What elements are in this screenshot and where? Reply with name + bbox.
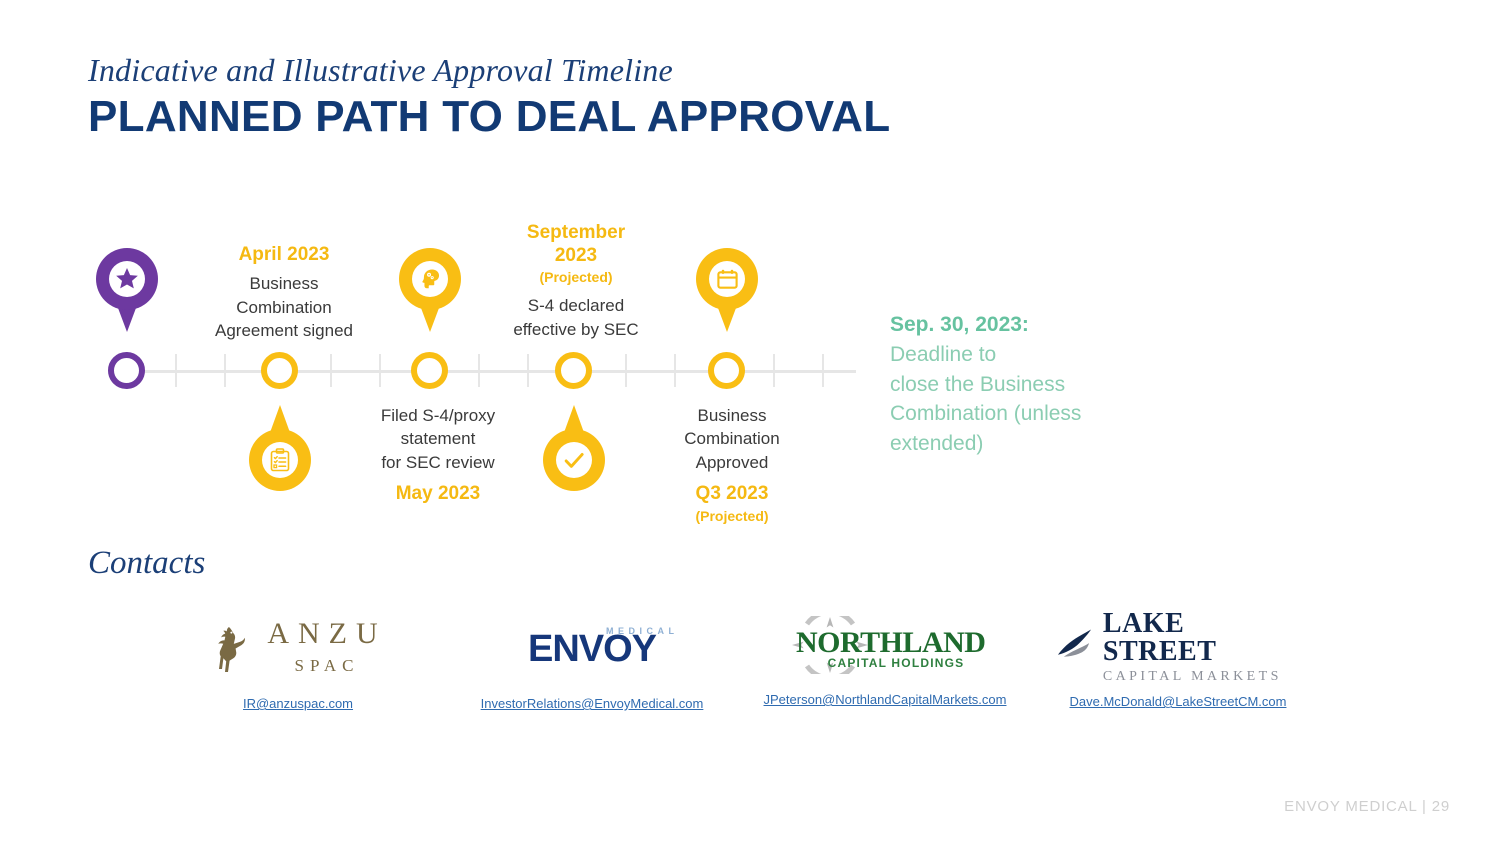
- swoosh-icon: [1056, 627, 1097, 667]
- email-link-anzu[interactable]: IR@anzuspac.com: [243, 696, 353, 711]
- lakestreet-logo-sub: CAPITAL MARKETS: [1103, 669, 1300, 685]
- timeline-tick: [478, 354, 480, 387]
- pin-marker-signing[interactable]: [96, 248, 158, 334]
- griffin-icon: [209, 623, 253, 675]
- northland-logo-main: NORTHLAND: [796, 628, 976, 658]
- timeline-node-september[interactable]: [555, 352, 592, 389]
- timeline-tick: [330, 354, 332, 387]
- anzu-logo: ANZU SPAC: [176, 618, 420, 680]
- lakestreet-logo: LAKE STREET CAPITAL MARKETS: [1056, 616, 1300, 678]
- star-icon: [109, 261, 145, 297]
- anzu-logo-sub: SPAC: [267, 653, 386, 679]
- clipboard-checklist-icon: [262, 442, 298, 478]
- envoy-logo-sub: MEDICAL: [606, 626, 679, 636]
- northland-logo-sub: CAPITAL HOLDINGS: [816, 656, 976, 670]
- pin-marker-s4-effective[interactable]: [399, 248, 461, 334]
- contact-anzu: ANZU SPAC IR@anzuspac.com: [176, 618, 420, 713]
- pin-head: [696, 248, 758, 310]
- envoy-logo: MEDICAL ENVOY: [470, 618, 714, 680]
- pin-marker-deadline[interactable]: [696, 248, 758, 334]
- pin-head: [399, 248, 461, 310]
- timeline-tick: [379, 354, 381, 387]
- check-circle-icon: [556, 442, 592, 478]
- timeline-axis: [126, 370, 856, 373]
- email-link-envoy[interactable]: InvestorRelations@EnvoyMedical.com: [481, 696, 704, 711]
- drop-tail: [259, 405, 301, 463]
- deadline-text: Deadline to close the Business Combinati…: [890, 340, 1180, 459]
- timeline-tick: [625, 354, 627, 387]
- pin-tail: [409, 276, 451, 332]
- timeline-tick: [674, 354, 676, 387]
- timeline-tick: [527, 354, 529, 387]
- deadline-callout: Sep. 30, 2023: Deadline to close the Bus…: [890, 310, 1180, 459]
- drop-marker-approved[interactable]: [543, 405, 605, 491]
- slide-eyebrow: Indicative and Illustrative Approval Tim…: [88, 52, 673, 89]
- pin-tail: [106, 276, 148, 332]
- contact-envoy: MEDICAL ENVOY InvestorRelations@EnvoyMed…: [470, 618, 714, 713]
- drop-head: [543, 429, 605, 491]
- pin-head: [96, 248, 158, 310]
- timeline-label-april: April 2023 Business Combination Agreemen…: [180, 243, 388, 343]
- timeline-node-signing[interactable]: [108, 352, 145, 389]
- timeline-node-april[interactable]: [261, 352, 298, 389]
- pin-tail: [706, 276, 748, 332]
- drop-tail: [553, 405, 595, 463]
- timeline-label-september: September 2023 (Projected) S-4 declared …: [486, 221, 666, 341]
- deadline-date: Sep. 30, 2023:: [890, 310, 1180, 340]
- contact-northland: NORTHLAND CAPITAL HOLDINGS JPeterson@Nor…: [763, 614, 1007, 709]
- timeline-label-q3: Business Combination Approved Q3 2023 (P…: [646, 404, 818, 527]
- slide: Indicative and Illustrative Approval Tim…: [0, 0, 1500, 844]
- timeline-node-may[interactable]: [411, 352, 448, 389]
- drop-head: [249, 429, 311, 491]
- anzu-logo-main: ANZU: [267, 619, 386, 649]
- lakestreet-logo-main: LAKE STREET: [1103, 610, 1300, 666]
- timeline-label-may: Filed S-4/proxy statement for SEC review…: [340, 404, 536, 506]
- email-link-lakestreet[interactable]: Dave.McDonald@LakeStreetCM.com: [1070, 694, 1287, 709]
- contacts-heading: Contacts: [88, 545, 205, 582]
- timeline-node-q3[interactable]: [708, 352, 745, 389]
- page-title: PLANNED PATH TO DEAL APPROVAL: [88, 94, 890, 140]
- timeline-tick: [773, 354, 775, 387]
- timeline-tick: [175, 354, 177, 387]
- drop-marker-sec-filing[interactable]: [249, 405, 311, 491]
- slide-footer: ENVOY MEDICAL | 29: [1284, 798, 1450, 815]
- calendar-icon: [709, 261, 745, 297]
- contact-lakestreet: LAKE STREET CAPITAL MARKETS Dave.McDonal…: [1056, 616, 1300, 711]
- northland-logo: NORTHLAND CAPITAL HOLDINGS: [763, 614, 1007, 676]
- timeline-tick: [224, 354, 226, 387]
- timeline-tick: [822, 354, 824, 387]
- head-gears-icon: [412, 261, 448, 297]
- email-link-northland[interactable]: JPeterson@NorthlandCapitalMarkets.com: [764, 692, 1007, 707]
